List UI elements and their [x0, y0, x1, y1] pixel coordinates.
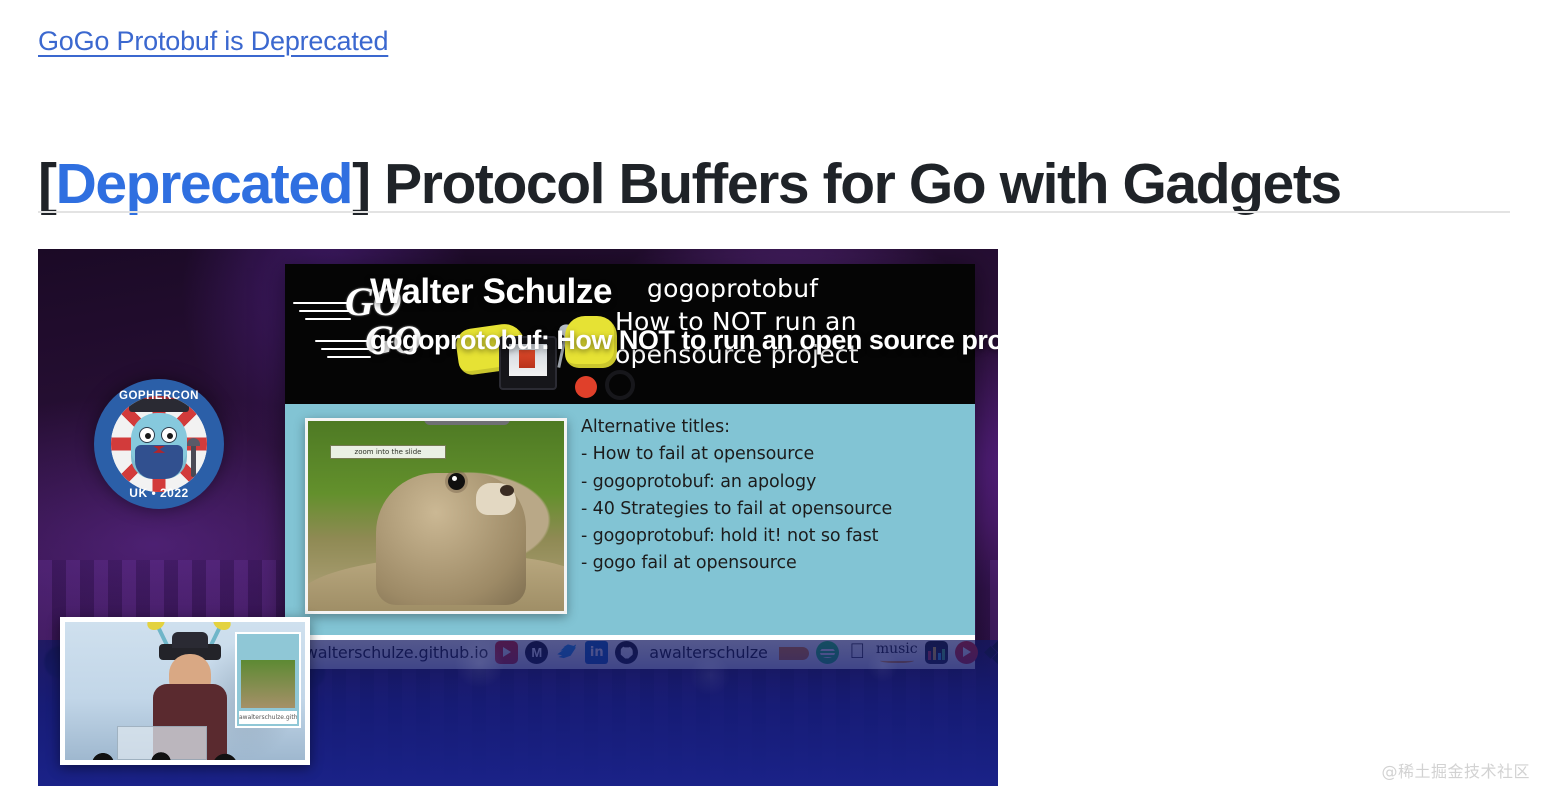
page-root: GoGo Protobuf is Deprecated [Deprecated]… [0, 0, 1548, 798]
mini-slide-preview: awalterschulze.github.io [235, 632, 301, 728]
alternative-titles-heading: Alternative titles: [581, 414, 961, 441]
breadcrumb: GoGo Protobuf is Deprecated [38, 26, 388, 57]
gray-hat-icon [424, 418, 510, 425]
alternative-title-item: - gogo fail at opensource [581, 550, 961, 577]
page-title-suffix: ] Protocol Buffers for Go with Gadgets [352, 152, 1341, 216]
alternative-title-item: - gogoprotobuf: hold it! not so fast [581, 523, 961, 550]
prairie-dog-eye [448, 473, 465, 490]
speaker-name: Walter Schulze [370, 272, 612, 312]
slide-body: zoom into the slide Alternative titles: … [285, 404, 975, 669]
page-title: [Deprecated] Protocol Buffers for Go wit… [38, 156, 1341, 213]
page-title-prefix: [ [38, 152, 56, 216]
alternative-titles-block: Alternative titles: - How to fail at ope… [581, 414, 961, 578]
page-title-highlight: Deprecated [56, 152, 352, 216]
prairie-dog-nose [500, 485, 514, 496]
slide-title-line-1: gogoprotobuf [615, 272, 965, 305]
photo-caption: zoom into the slide [330, 445, 446, 459]
alternative-title-item: - 40 Strategies to fail at opensource [581, 496, 961, 523]
hoop-icon [605, 370, 635, 400]
mini-slide-url: awalterschulze.github.io [239, 711, 297, 724]
badge-bottom-text: UK • 2022 [129, 486, 188, 500]
site-watermark: @稀土掘金技术社区 [1381, 758, 1530, 782]
prairie-dog-photo: zoom into the slide [305, 418, 567, 614]
foreground-audience-heads [65, 734, 305, 760]
red-ball-icon [575, 376, 597, 398]
gophercon-badge-icon: GOPHERCON UK • 2022 [94, 379, 224, 509]
badge-top-text: GOPHERCON [119, 390, 199, 402]
speaker-camera-inset: awalterschulze.github.io [60, 617, 310, 765]
alternative-title-item: - gogoprotobuf: an apology [581, 469, 961, 496]
breadcrumb-link-gogo-protobuf-is-deprecated[interactable]: GoGo Protobuf is Deprecated [38, 26, 388, 56]
talk-title: gogoprotobuf: How NOT to run an open sou… [370, 325, 998, 356]
conference-talk-video-thumbnail[interactable]: GOPHERCON UK • 2022 GO GO [38, 249, 998, 786]
title-divider [38, 211, 1510, 213]
alternative-title-item: - How to fail at opensource [581, 441, 961, 468]
badge-text: GOPHERCON UK • 2022 [94, 379, 224, 509]
slide-title: gogoprotobuf How to NOT run an opensourc… [615, 272, 965, 371]
